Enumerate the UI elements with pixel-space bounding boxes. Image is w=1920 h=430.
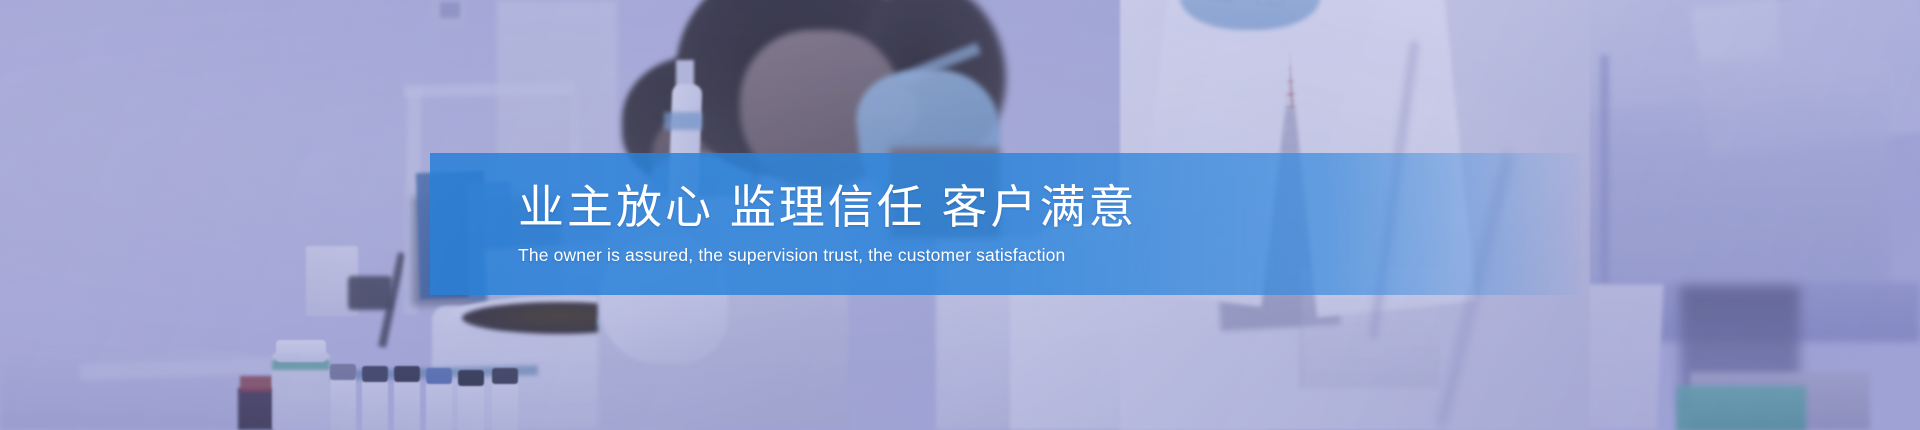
hero-banner: 业主放心 监理信任 客户满意 The owner is assured, the…: [0, 0, 1920, 430]
slogan-bar: 业主放心 监理信任 客户满意 The owner is assured, the…: [430, 153, 1580, 295]
slogan-subtitle-english: The owner is assured, the supervision tr…: [518, 245, 1580, 266]
slogan-title-chinese: 业主放心 监理信任 客户满意: [518, 182, 1580, 234]
